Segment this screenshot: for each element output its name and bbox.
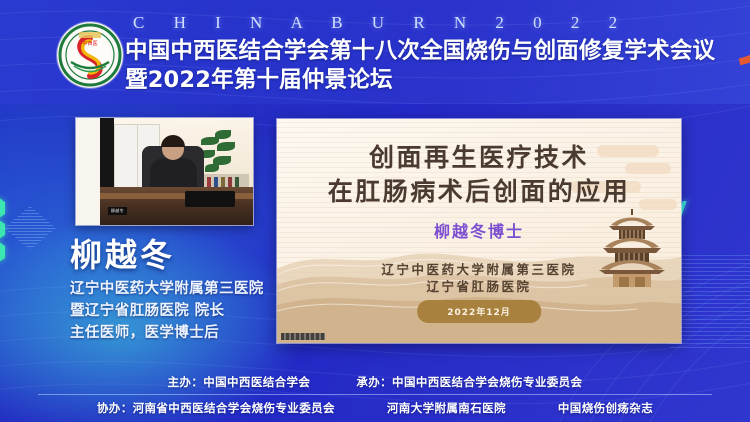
watermark-bar-icon bbox=[281, 333, 325, 340]
footer-item-coorganizer: 协办：河南省中西医结合学会烧伤专业委员会 bbox=[97, 400, 335, 416]
video-wall-left bbox=[76, 118, 100, 225]
video-nameplate: 柳越冬 bbox=[108, 207, 127, 215]
sponsor-footer: 主办：中国中西医结合学会 承办：中国中西医结合学会烧伤专业委员会 协办：河南省中… bbox=[0, 364, 750, 422]
china-burn-emblem-logo: 中西医 bbox=[57, 22, 123, 88]
slide-title-line-1: 创面再生医疗技术 bbox=[277, 141, 681, 175]
footer-item-host: 主办：中国中西医结合学会 bbox=[168, 374, 311, 390]
conference-title-line-2: 暨2022年第十届仲景论坛 bbox=[125, 62, 393, 94]
video-monitor bbox=[185, 191, 235, 207]
footer-row-organizers: 主办：中国中西医结合学会 承办：中国中西医结合学会烧伤专业委员会 bbox=[0, 374, 750, 390]
footer-divider bbox=[38, 394, 712, 395]
slide-title-line-2: 在肛肠病术后创面的应用 bbox=[277, 175, 681, 209]
footer-item-hospital: 河南大学附属南石医院 bbox=[387, 400, 506, 416]
speaker-affiliation-line-1: 辽宁中医药大学附属第三医院 bbox=[70, 277, 264, 298]
horizontal-hatch-pattern-icon bbox=[670, 252, 750, 348]
speaker-affiliation-line-3: 主任医师，医学博士后 bbox=[70, 321, 219, 342]
chevron-right-icon bbox=[0, 196, 36, 258]
slide-date-badge: 2022年12月 bbox=[417, 300, 541, 323]
slide-organization: 辽宁中医药大学附属第三医院 辽宁省肛肠医院 bbox=[277, 261, 681, 295]
speaker-affiliation-line-2: 暨辽宁省肛肠医院 院长 bbox=[70, 299, 224, 320]
footer-row-coorganizers: 协办：河南省中西医结合学会烧伤专业委员会 河南大学附属南石医院 中国烧伤创疡杂志 bbox=[0, 400, 750, 416]
speaker-name: 柳越冬 bbox=[70, 230, 175, 276]
slide-author: 柳越冬博士 bbox=[277, 218, 681, 242]
slide-title: 创面再生医疗技术 在肛肠病术后创面的应用 bbox=[277, 141, 681, 209]
footer-item-journal: 中国烧伤创疡杂志 bbox=[558, 400, 653, 416]
footer-item-organizer: 承办：中国中西医结合学会烧伤专业委员会 bbox=[356, 374, 582, 390]
conference-title-line-1: 中国中西医结合学会第十八次全国烧伤与创面修复学术会议 bbox=[125, 33, 715, 65]
svg-text:中西医: 中西医 bbox=[82, 40, 97, 47]
slide-org-line-2: 辽宁省肛肠医院 bbox=[277, 278, 681, 295]
presentation-stage: 中西医 C H I N A B U R N 2 0 2 2 中国中西医结合学会第… bbox=[0, 0, 750, 422]
conference-header: 中西医 C H I N A B U R N 2 0 2 2 中国中西医结合学会第… bbox=[0, 0, 750, 104]
speaker-video-feed[interactable]: 柳越冬 bbox=[76, 118, 253, 225]
presentation-slide[interactable]: 创面再生医疗技术 在肛肠病术后创面的应用 柳越冬博士 辽宁中医药大学附属第三医院… bbox=[277, 119, 681, 343]
slide-org-line-1: 辽宁中医药大学附属第三医院 bbox=[277, 261, 681, 278]
english-conference-title: C H I N A B U R N 2 0 2 2 bbox=[133, 13, 630, 33]
